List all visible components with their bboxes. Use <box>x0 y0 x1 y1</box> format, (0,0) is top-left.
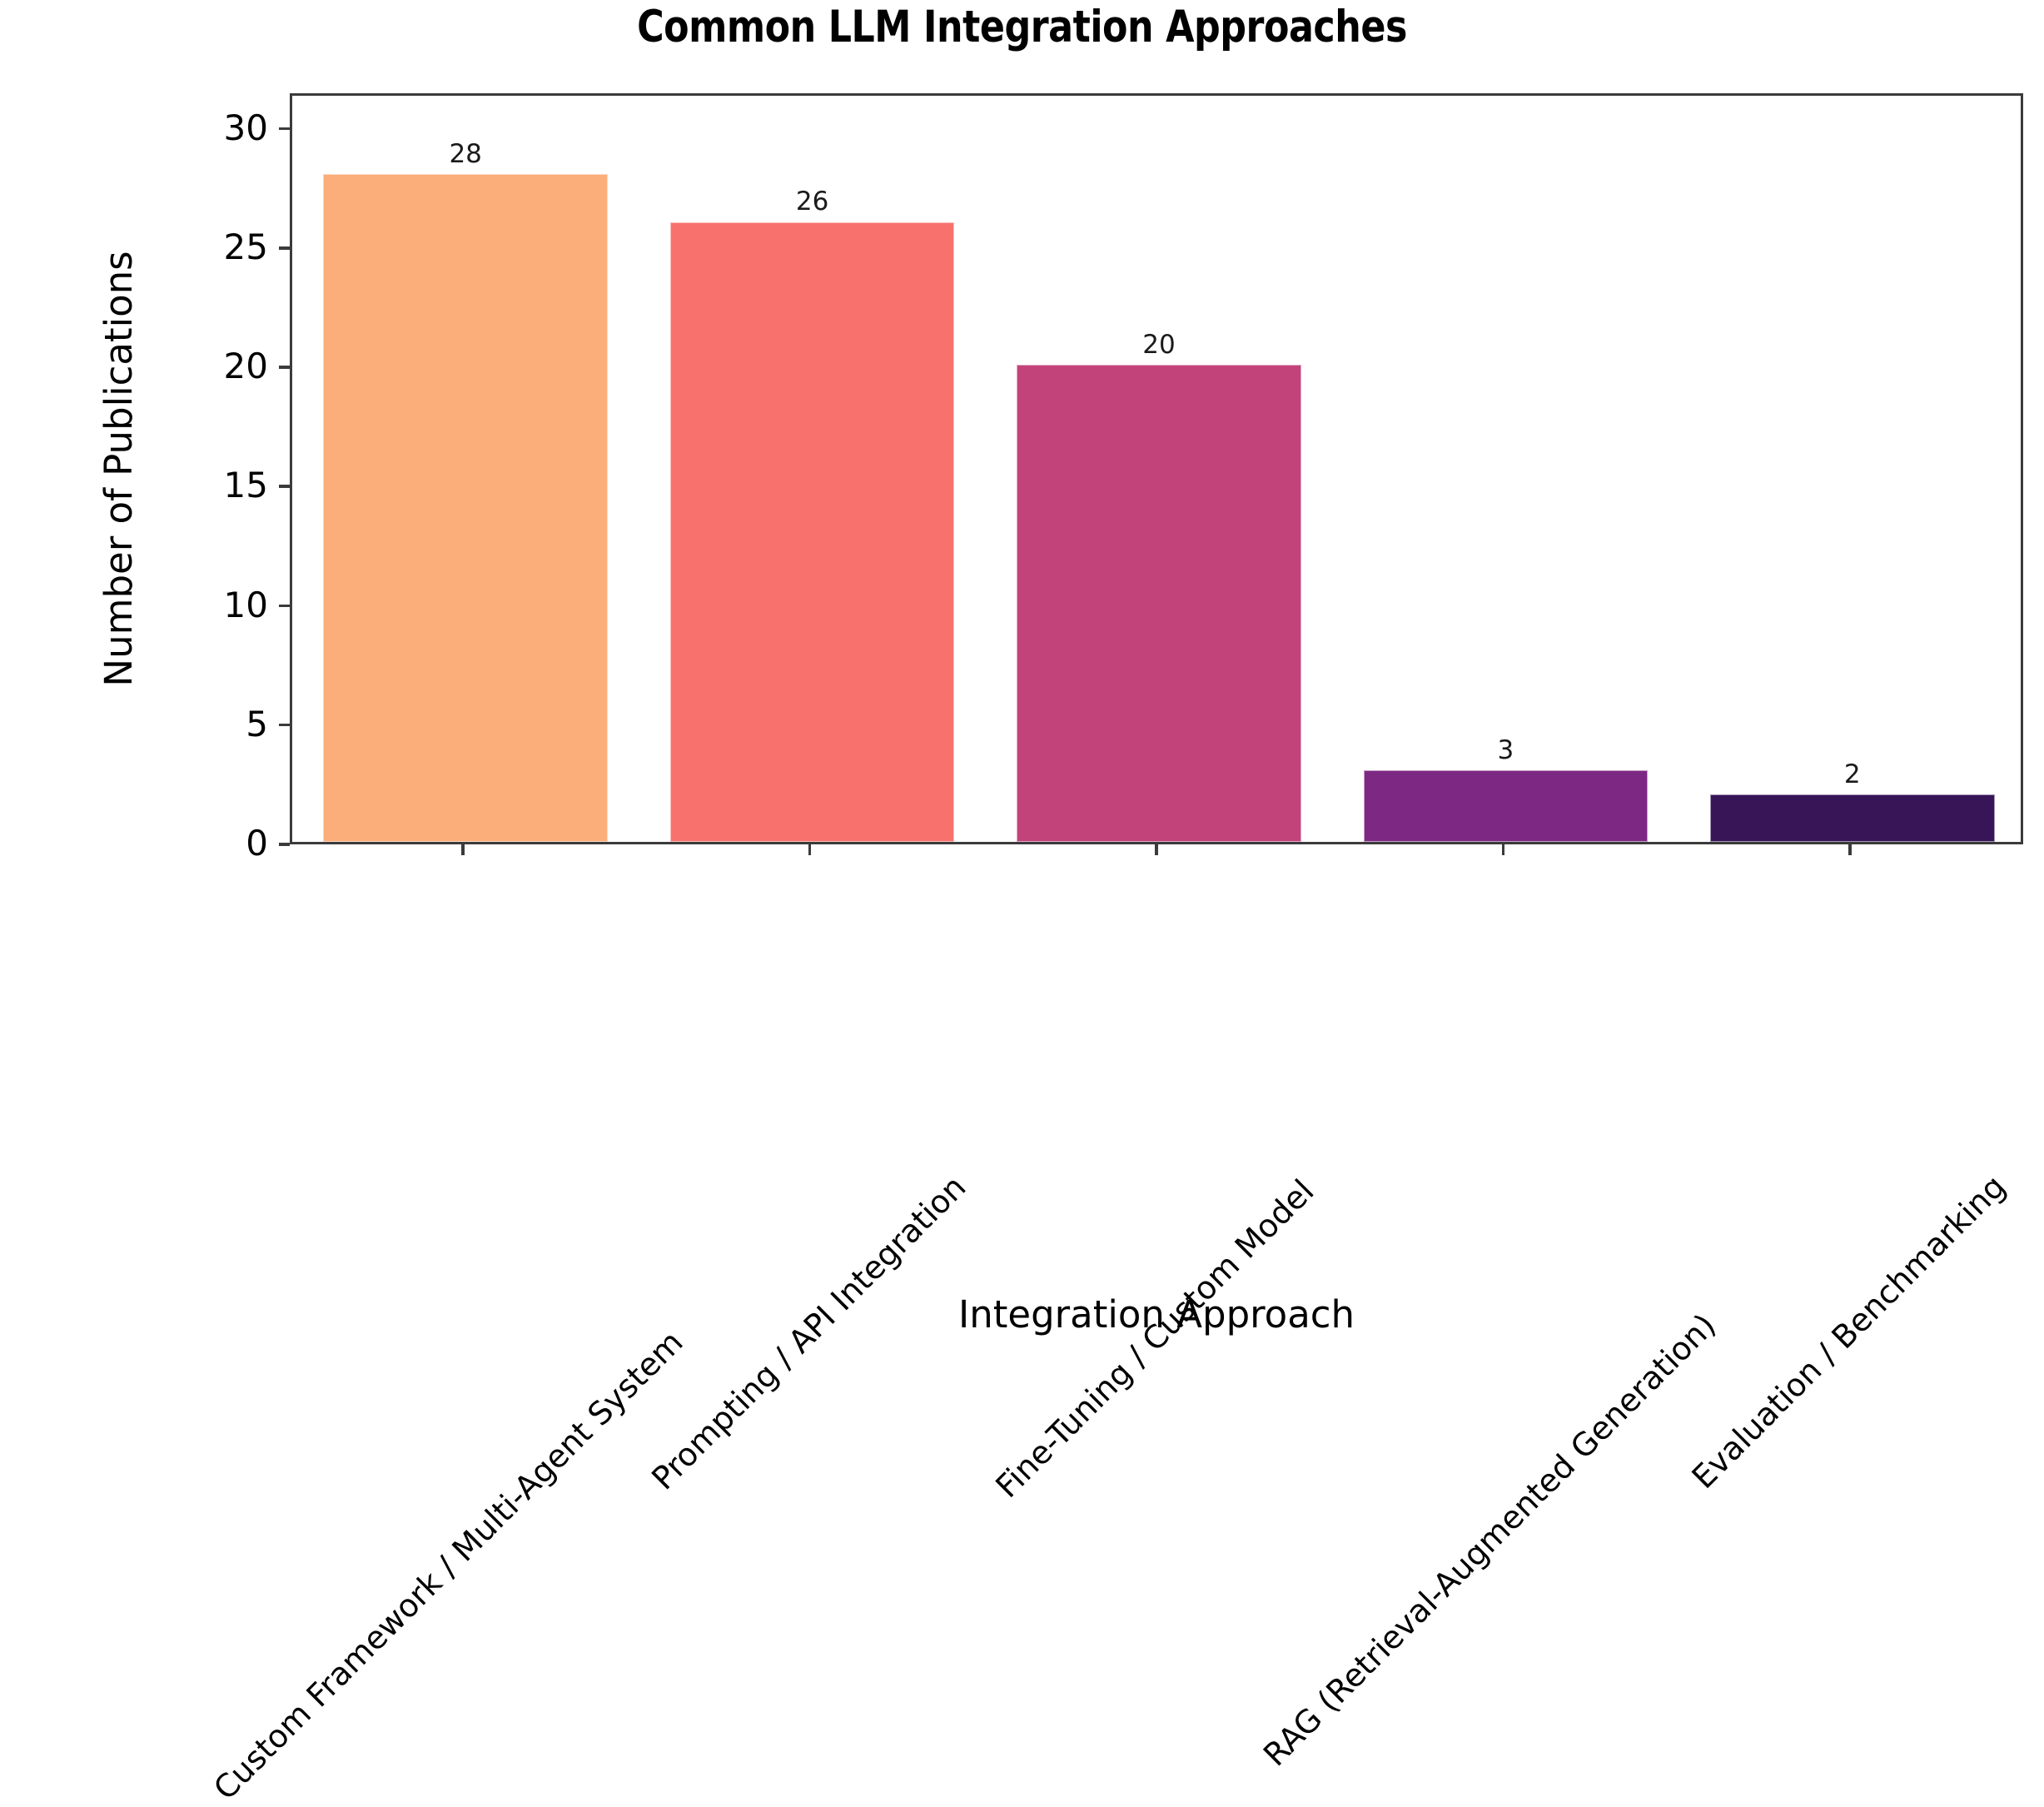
plot-area: 28262032 <box>290 93 2023 844</box>
bar[interactable] <box>323 174 607 842</box>
x-tick-label-text: RAG (Retrieval-Augmented Generation) <box>1256 1307 1723 1773</box>
x-tick-label: Fine-Tuning / Custom Model <box>1295 866 1627 1198</box>
bar[interactable] <box>1017 365 1301 842</box>
x-tick-label-text: Fine-Tuning / Custom Model <box>988 1172 1320 1505</box>
y-tick-label: 15 <box>224 465 268 505</box>
y-tick-mark <box>279 366 290 369</box>
bar[interactable] <box>670 222 954 843</box>
y-tick-label: 5 <box>246 704 268 744</box>
bar[interactable] <box>1364 770 1648 842</box>
x-tick-label: RAG (Retrieval-Augmented Generation) <box>1698 866 2044 1332</box>
bar-value-label: 26 <box>670 187 954 217</box>
bar-value-label: 28 <box>323 139 607 169</box>
bar-value-label: 2 <box>1710 759 1994 789</box>
y-tick-label: 0 <box>246 824 268 864</box>
bar[interactable] <box>1710 794 1994 842</box>
bar-value-label: 20 <box>1017 330 1301 360</box>
x-tick-label: Custom Framework / Multi-Agent System <box>664 866 1148 1350</box>
y-tick-mark <box>279 485 290 488</box>
x-tick-mark <box>1848 844 1852 855</box>
y-tick-mark <box>279 127 290 131</box>
x-tick-mark <box>1155 844 1158 855</box>
chart-title: Common LLM Integration Approaches <box>72 2 1972 52</box>
y-tick-mark <box>279 605 290 608</box>
bars-layer: 28262032 <box>292 96 2021 842</box>
y-tick-label: 25 <box>224 227 268 267</box>
y-tick-mark <box>279 724 290 727</box>
y-tick-mark <box>279 246 290 250</box>
y-tick-label: 30 <box>224 108 268 148</box>
x-tick-mark <box>808 844 812 855</box>
chart-figure: Common LLM Integration Approaches Number… <box>0 0 2044 1351</box>
y-tick-label: 10 <box>224 585 268 625</box>
y-axis-title: Number of Publications <box>93 93 145 844</box>
bar-value-label: 3 <box>1364 735 1648 765</box>
x-tick-mark <box>1502 844 1505 855</box>
y-tick-mark <box>279 843 290 846</box>
y-tick-label: 20 <box>224 346 268 386</box>
x-tick-mark <box>461 844 465 855</box>
x-tick-label-text: Custom Framework / Multi-Agent System <box>206 1323 690 1807</box>
